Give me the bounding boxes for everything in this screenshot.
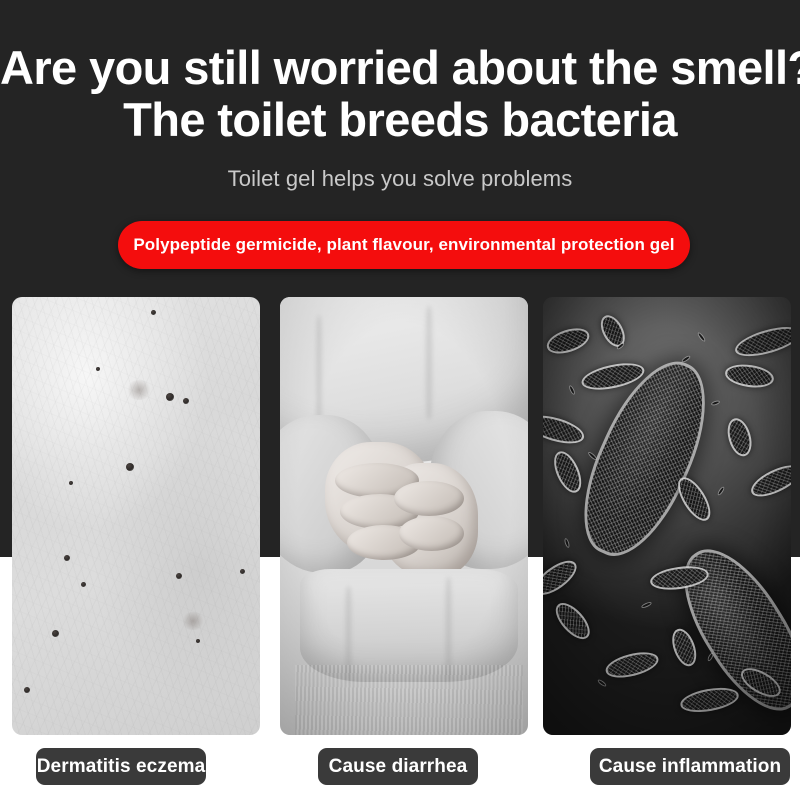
feature-banner: Polypeptide germicide, plant flavour, en… <box>118 221 690 269</box>
image-card-dermatitis <box>12 297 260 735</box>
skin-mole <box>240 569 245 574</box>
skin-mole <box>176 573 182 579</box>
skin-mole <box>52 630 59 637</box>
image-card-diarrhea <box>280 297 528 735</box>
headline-line-1: Are you still worried about the smell? <box>0 42 800 94</box>
caption-text: Dermatitis eczema <box>37 756 206 778</box>
caption-text: Cause diarrhea <box>329 756 468 778</box>
image-card-inflammation <box>543 297 791 735</box>
caption-badge-inflammation: Cause inflammation <box>590 748 790 785</box>
image-card-row <box>0 297 800 735</box>
headline: Are you still worried about the smell? T… <box>0 42 800 146</box>
headline-line-2: The toilet breeds bacteria <box>0 94 800 146</box>
promotional-poster: Are you still worried about the smell? T… <box>0 0 800 800</box>
skin-mole <box>196 639 200 643</box>
bacteria-photo <box>543 297 791 735</box>
caption-text: Cause inflammation <box>599 756 781 778</box>
skin-mole <box>151 310 156 315</box>
skin-photo <box>12 297 260 735</box>
caption-badge-dermatitis: Dermatitis eczema <box>36 748 206 785</box>
feature-banner-text: Polypeptide germicide, plant flavour, en… <box>133 235 674 255</box>
stomach-ache-photo <box>280 297 528 735</box>
caption-badge-diarrhea: Cause diarrhea <box>318 748 478 785</box>
skin-mole <box>183 398 189 404</box>
skin-mole <box>69 481 73 485</box>
subtitle: Toilet gel helps you solve problems <box>0 166 800 192</box>
